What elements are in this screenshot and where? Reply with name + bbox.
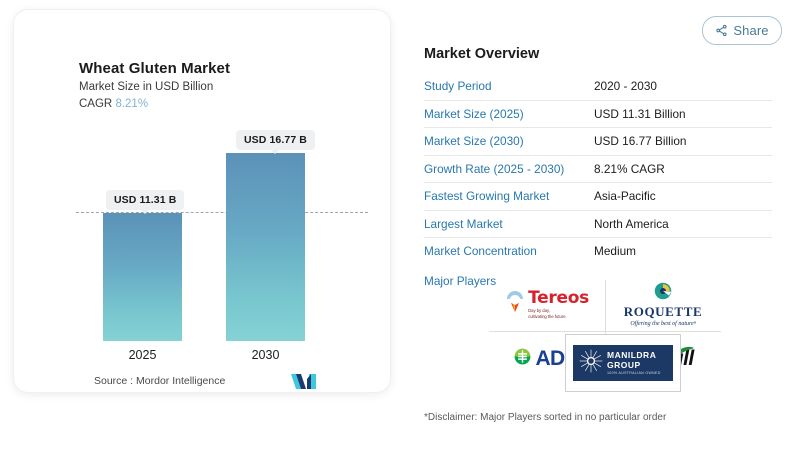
- manildra-sun-icon: [578, 348, 604, 379]
- overview-value: 2020 - 2030: [594, 79, 657, 93]
- bar-chart-plot: USD 11.31 B USD 16.77 B 2025 2030: [14, 10, 390, 392]
- logo-cell-roquette: ROQUETTE Offering the best of natureⁿ: [605, 278, 721, 331]
- tereos-logo: Tereos Day by day, cultivating the futur…: [505, 290, 589, 320]
- overview-row-market-size-2025: Market Size (2025) USD 11.31 Billion: [424, 101, 772, 129]
- bar-label-2030: USD 16.77 B: [236, 130, 315, 150]
- x-axis-tick-2030: 2030: [226, 348, 305, 362]
- overview-value: North America: [594, 217, 669, 231]
- market-overview-title: Market Overview: [424, 46, 772, 62]
- overview-value: Asia-Pacific: [594, 189, 656, 203]
- overview-value: USD 16.77 Billion: [594, 134, 686, 148]
- page-root: Share Wheat Gluten Market Market Size in…: [0, 0, 800, 450]
- manildra-name: MANILDRA GROUP: [607, 351, 673, 370]
- share-button-label: Share: [733, 23, 768, 38]
- overview-value: USD 11.31 Billion: [594, 107, 686, 121]
- tereos-tagline-1: Day by day,: [528, 308, 589, 313]
- chart-card: Wheat Gluten Market Market Size in USD B…: [14, 10, 390, 392]
- roquette-logo: ROQUETTE Offering the best of natureⁿ: [624, 282, 702, 326]
- share-icon: [715, 24, 728, 37]
- tereos-name: Tereos: [528, 290, 589, 307]
- overview-label: Fastest Growing Market: [424, 189, 594, 203]
- x-axis-tick-2025: 2025: [103, 348, 182, 362]
- overview-row-fastest-growing-market: Fastest Growing Market Asia-Pacific: [424, 183, 772, 211]
- overview-label: Market Concentration: [424, 244, 594, 258]
- bar-2025[interactable]: [103, 213, 182, 341]
- overview-label: Market Size (2025): [424, 107, 594, 121]
- bar-label-2025: USD 11.31 B: [106, 190, 184, 210]
- overview-label: Study Period: [424, 79, 594, 93]
- manildra-tagline: 100% AUSTRALIAN OWNED: [607, 371, 673, 375]
- roquette-name: ROQUETTE: [624, 305, 702, 319]
- roquette-icon: [654, 282, 672, 305]
- roquette-tagline: Offering the best of natureⁿ: [630, 321, 695, 327]
- tereos-tagline-2: cultivating the future.: [528, 314, 589, 319]
- overview-row-largest-market: Largest Market North America: [424, 211, 772, 239]
- overview-label: Growth Rate (2025 - 2030): [424, 162, 594, 176]
- chart-source: Source : Mordor Intelligence: [94, 375, 225, 387]
- mordor-intelligence-logo: [291, 373, 317, 392]
- manildra-logo: MANILDRA GROUP 100% AUSTRALIAN OWNED: [573, 345, 673, 381]
- logo-cell-manildra: MANILDRA GROUP 100% AUSTRALIAN OWNED: [565, 334, 681, 392]
- tereos-icon: [505, 291, 525, 318]
- share-button[interactable]: Share: [702, 16, 782, 45]
- overview-row-market-size-2030: Market Size (2030) USD 16.77 Billion: [424, 128, 772, 156]
- disclaimer-text: *Disclaimer: Major Players sorted in no …: [424, 412, 666, 423]
- overview-value: Medium: [594, 244, 636, 258]
- overview-value: 8.21% CAGR: [594, 162, 665, 176]
- overview-row-market-concentration: Market Concentration Medium: [424, 238, 772, 265]
- overview-label: Largest Market: [424, 217, 594, 231]
- market-overview-panel: Market Overview Study Period 2020 - 2030…: [424, 46, 772, 288]
- adm-leaf-icon: [512, 346, 533, 372]
- overview-row-study-period: Study Period 2020 - 2030: [424, 73, 772, 101]
- bar-2030[interactable]: [226, 153, 305, 341]
- logo-cell-tereos: Tereos Day by day, cultivating the futur…: [489, 278, 605, 331]
- overview-row-growth-rate: Growth Rate (2025 - 2030) 8.21% CAGR: [424, 156, 772, 184]
- overview-label: Market Size (2030): [424, 134, 594, 148]
